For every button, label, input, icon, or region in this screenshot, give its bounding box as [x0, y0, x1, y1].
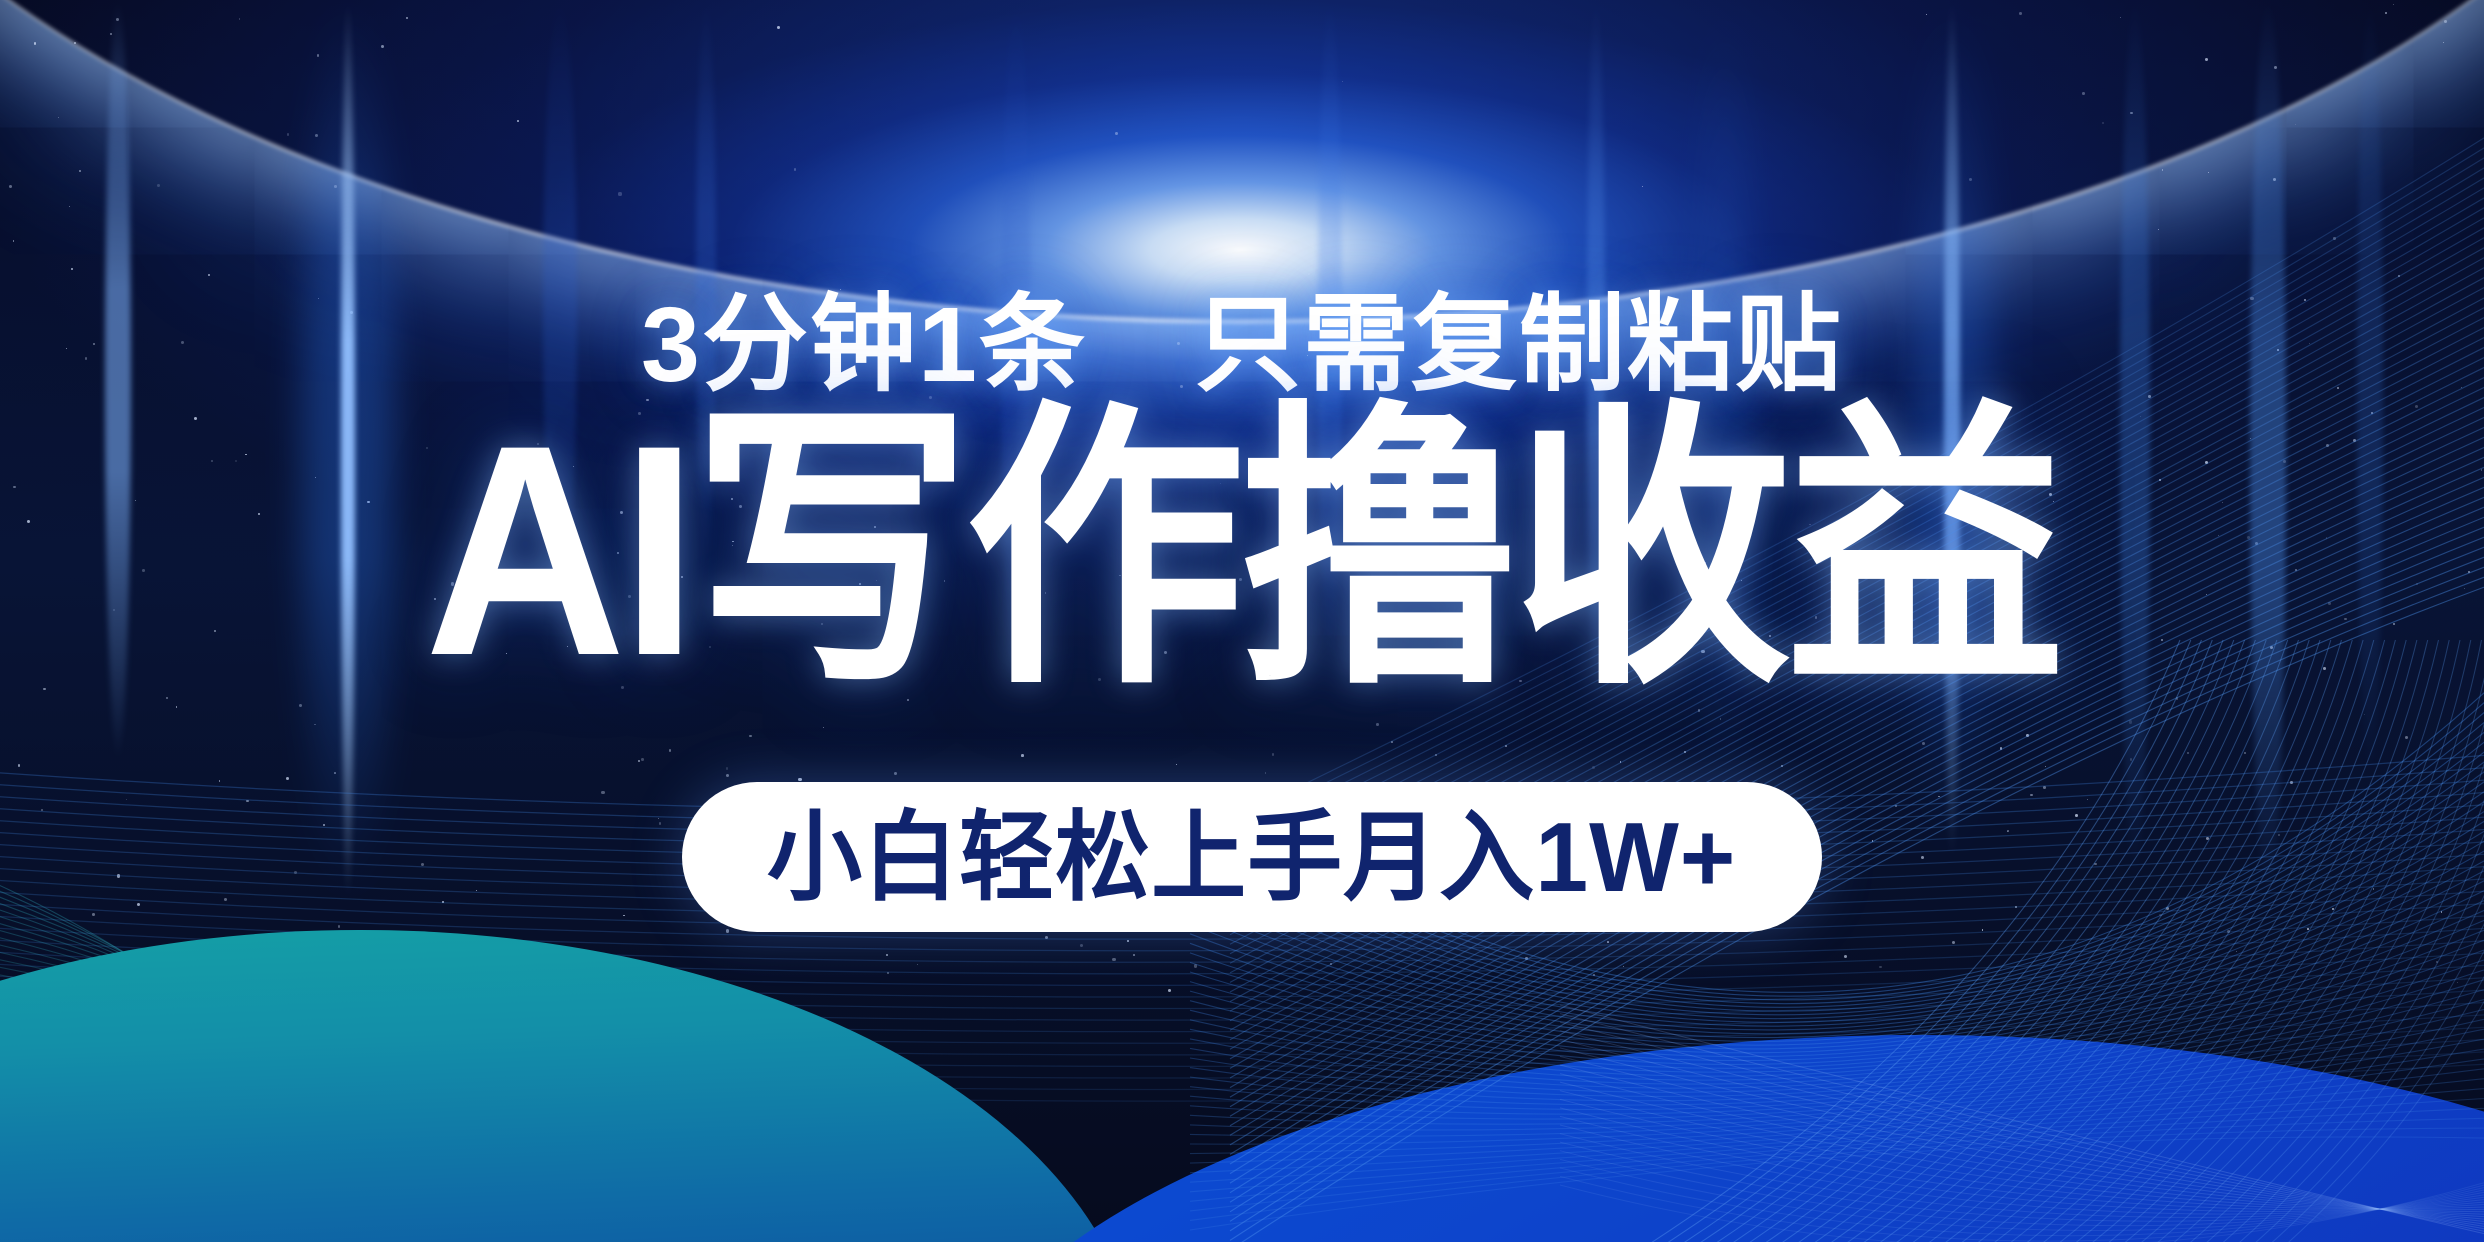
- banner-badge-label: 小白轻松上手月入1W+: [767, 808, 1736, 906]
- banner-badge: 小白轻松上手月入1W+: [682, 782, 1822, 932]
- banner-headline: AI写作撸收益: [87, 400, 2397, 700]
- promo-banner: 3分钟1条 只需复制粘贴 AI写作撸收益 小白轻松上手月入1W+: [0, 0, 2484, 1242]
